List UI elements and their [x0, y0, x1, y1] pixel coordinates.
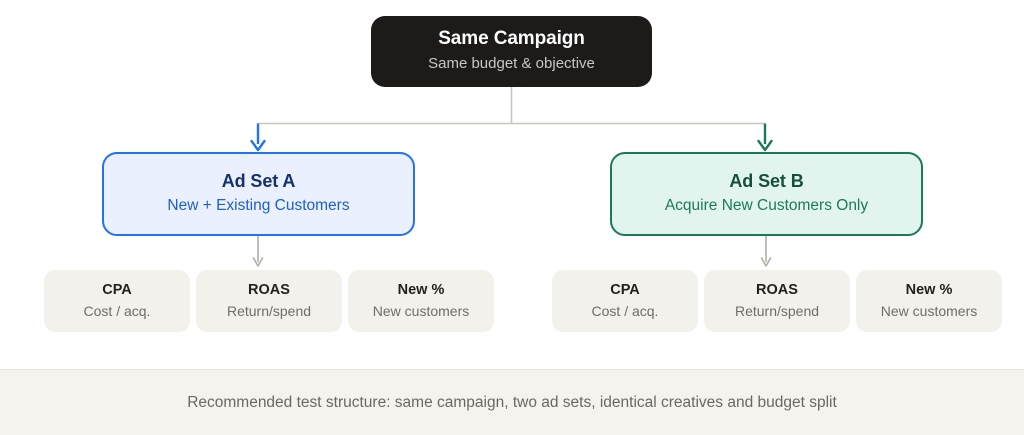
metric-chip-new-percent-b[interactable]: New % New customers	[856, 270, 1002, 332]
metric-sublabel: New customers	[881, 302, 977, 320]
arrowhead-adset-b-icon	[759, 141, 772, 150]
metric-label: CPA	[610, 282, 640, 299]
metric-sublabel: Cost / acq.	[592, 302, 659, 320]
arrowhead-adset-a-icon	[252, 141, 265, 150]
campaign-node[interactable]: Same Campaign Same budget & objective	[371, 16, 652, 87]
metric-chip-roas-a[interactable]: ROAS Return/spend	[196, 270, 342, 332]
metric-chip-cpa-a[interactable]: CPA Cost / acq.	[44, 270, 190, 332]
adset-a-title: Ad Set A	[222, 171, 296, 193]
campaign-title: Same Campaign	[438, 28, 585, 51]
arrowhead-metrics-a-icon	[254, 258, 263, 266]
diagram-canvas: Same Campaign Same budget & objective Ad…	[0, 0, 1024, 435]
metric-chip-new-percent-a[interactable]: New % New customers	[348, 270, 494, 332]
adset-a-metric-group: CPA Cost / acq. ROAS Return/spend New % …	[44, 270, 494, 332]
adset-a-node[interactable]: Ad Set A New + Existing Customers	[102, 152, 415, 236]
metric-label: New %	[398, 282, 445, 299]
arrowhead-metrics-b-icon	[762, 258, 771, 266]
metric-sublabel: Cost / acq.	[84, 302, 151, 320]
metric-sublabel: New customers	[373, 302, 469, 320]
metric-label: ROAS	[756, 282, 798, 299]
adset-b-metric-group: CPA Cost / acq. ROAS Return/spend New % …	[552, 270, 1002, 332]
campaign-subtitle: Same budget & objective	[428, 54, 595, 74]
metric-chip-roas-b[interactable]: ROAS Return/spend	[704, 270, 850, 332]
metric-label: New %	[906, 282, 953, 299]
metric-sublabel: Return/spend	[227, 302, 311, 320]
metric-sublabel: Return/spend	[735, 302, 819, 320]
metric-label: CPA	[102, 282, 132, 299]
footer-caption-band: Recommended test structure: same campaig…	[0, 369, 1024, 435]
adset-b-subtitle: Acquire New Customers Only	[665, 196, 868, 217]
metric-label: ROAS	[248, 282, 290, 299]
metric-chip-cpa-b[interactable]: CPA Cost / acq.	[552, 270, 698, 332]
adset-b-title: Ad Set B	[729, 171, 803, 193]
adset-b-node[interactable]: Ad Set B Acquire New Customers Only	[610, 152, 923, 236]
footer-caption-text: Recommended test structure: same campaig…	[187, 392, 837, 414]
adset-a-subtitle: New + Existing Customers	[167, 196, 349, 217]
